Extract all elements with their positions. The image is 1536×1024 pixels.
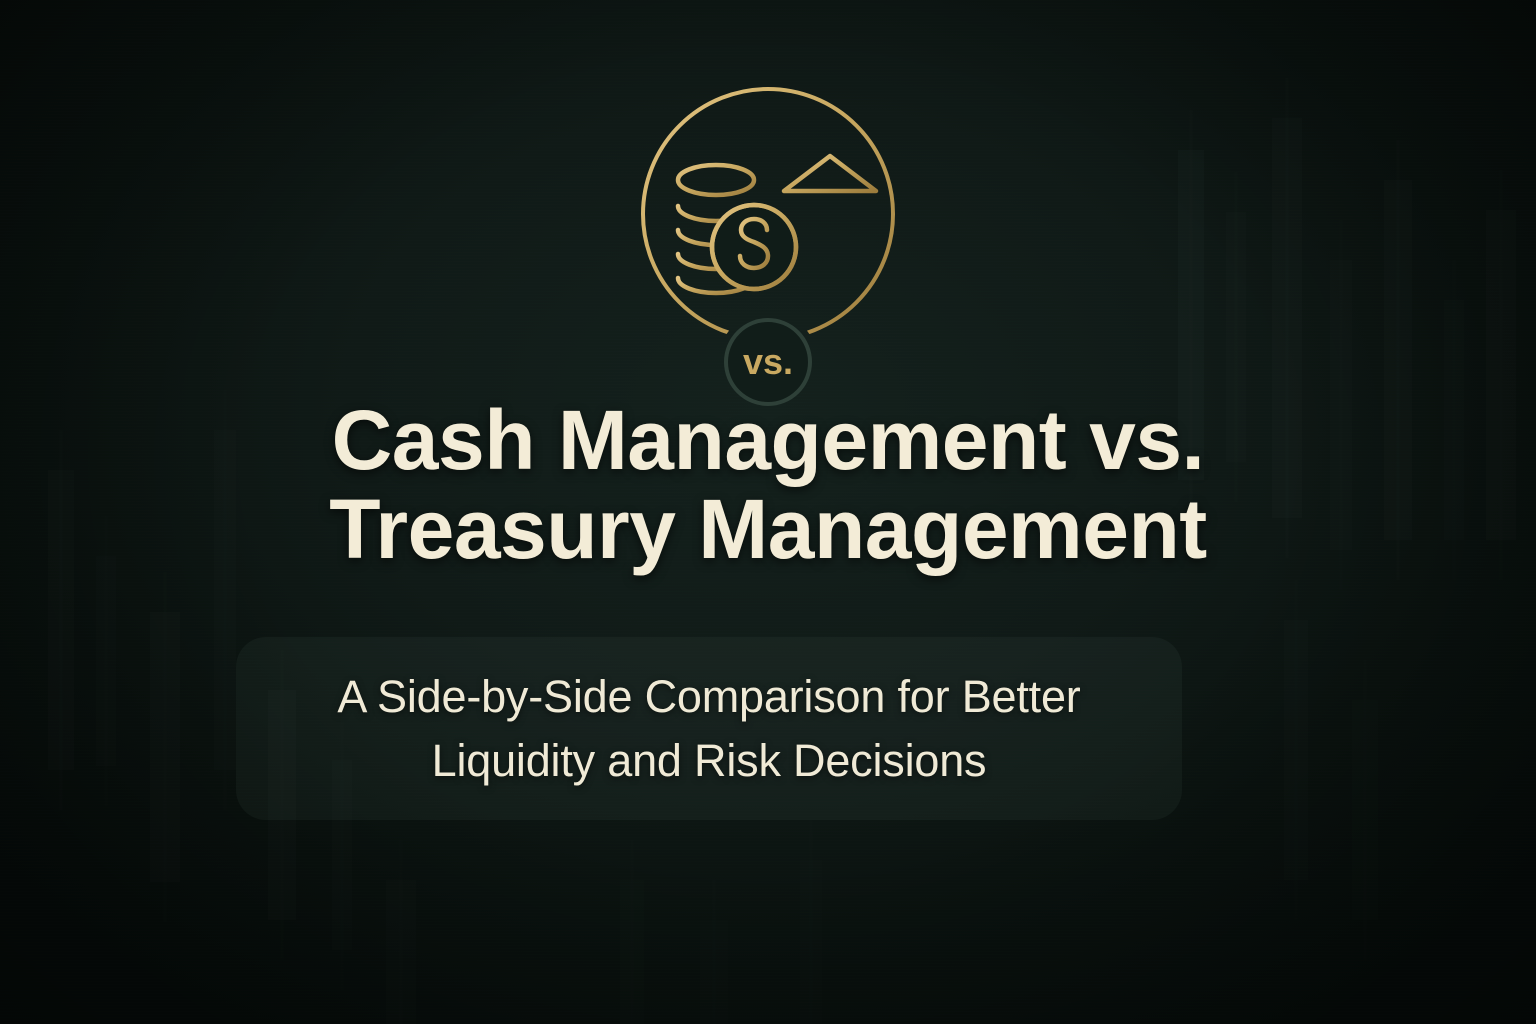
subtitle-line-1: A Side-by-Side Comparison for Better [337,665,1080,729]
subtitle-panel: A Side-by-Side Comparison for Better Liq… [236,637,1182,820]
cash-vs-treasury-emblem: vs. [638,84,898,414]
bank-building-icon [780,156,880,276]
page-title: Cash Management vs. Treasury Management [0,396,1536,574]
vs-badge-label: vs. [743,341,793,382]
vs-badge: vs. [726,320,810,404]
title-card-canvas: vs. Cash Management vs. Treasury Managem… [0,0,1536,1024]
subtitle-line-2: Liquidity and Risk Decisions [432,729,987,793]
dollar-coin-icon [712,205,796,289]
page-title-line-2: Treasury Management [0,485,1536,574]
page-title-line-1: Cash Management vs. [0,396,1536,485]
